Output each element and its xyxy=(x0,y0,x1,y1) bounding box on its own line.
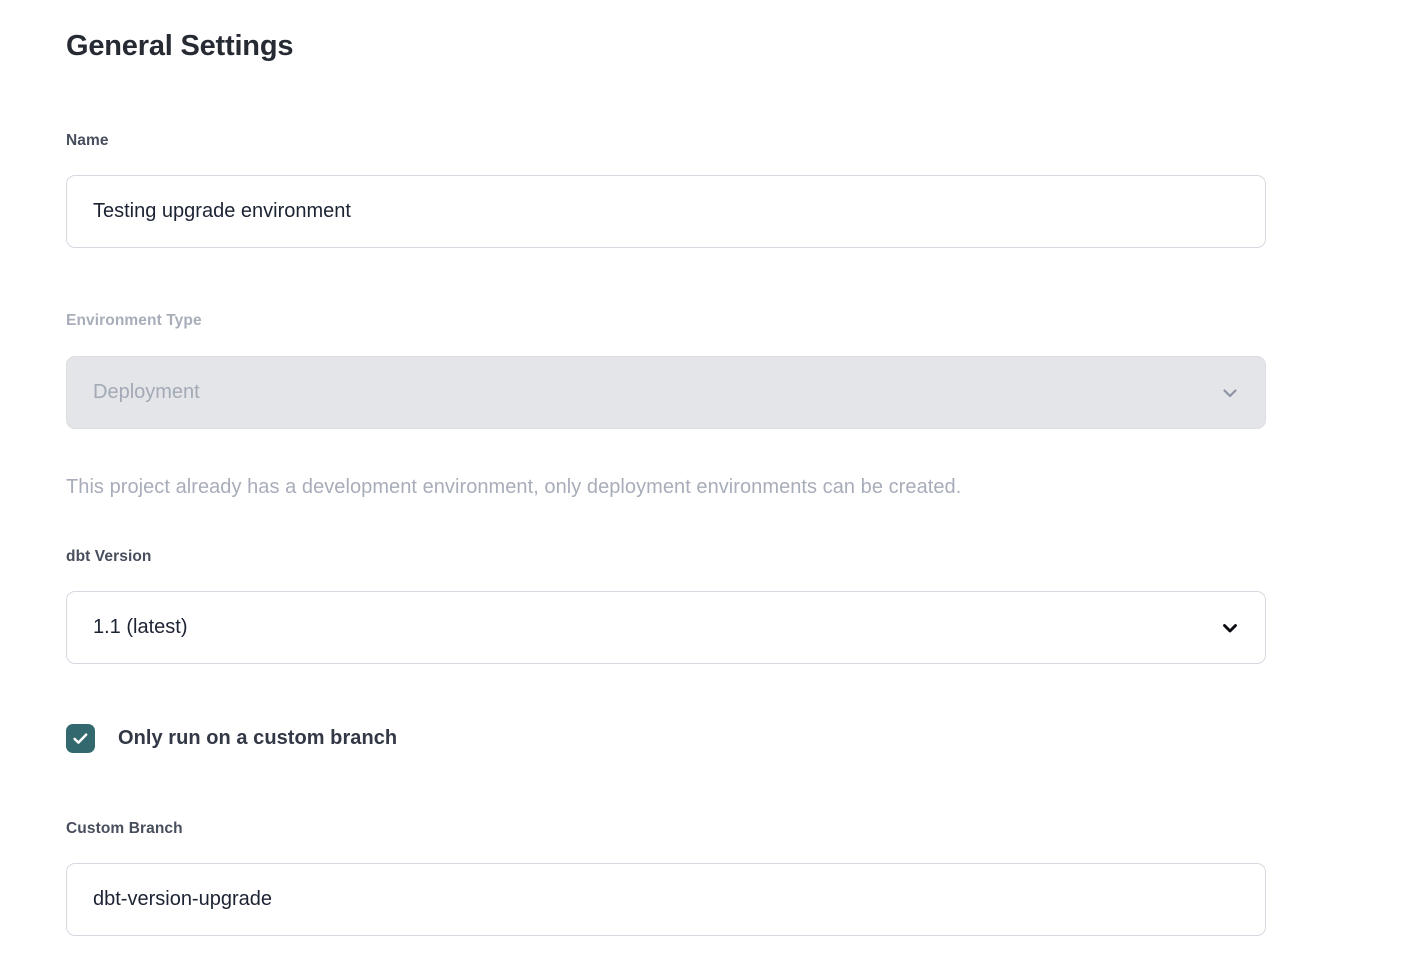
page-title: General Settings xyxy=(66,0,1266,66)
field-group-environment-type: Environment Type Deployment xyxy=(66,311,202,331)
general-settings-form: General Settings Name Environment Type D… xyxy=(66,0,1266,66)
field-group-custom-branch: Custom Branch xyxy=(66,819,183,839)
environment-type-helper-text: This project already has a development e… xyxy=(66,474,1316,500)
name-input[interactable] xyxy=(66,175,1266,248)
only-run-custom-branch-checkbox[interactable] xyxy=(66,724,95,753)
dbt-version-select-value[interactable]: 1.1 (latest) xyxy=(66,591,1266,664)
only-run-custom-branch-row[interactable]: Only run on a custom branch xyxy=(66,724,397,753)
general-settings-page: General Settings Name Environment Type D… xyxy=(0,0,1406,958)
check-icon xyxy=(71,729,90,748)
field-group-name: Name xyxy=(66,131,109,151)
environment-type-select-value: Deployment xyxy=(66,356,1266,429)
field-group-dbt-version: dbt Version 1.1 (latest) xyxy=(66,547,152,567)
name-label: Name xyxy=(66,131,109,151)
custom-branch-input[interactable] xyxy=(66,863,1266,936)
dbt-version-label: dbt Version xyxy=(66,547,152,567)
dbt-version-select[interactable]: 1.1 (latest) xyxy=(66,591,1266,664)
environment-type-select: Deployment xyxy=(66,356,1266,429)
environment-type-label: Environment Type xyxy=(66,311,202,331)
custom-branch-label: Custom Branch xyxy=(66,819,183,839)
only-run-custom-branch-label[interactable]: Only run on a custom branch xyxy=(118,727,397,750)
